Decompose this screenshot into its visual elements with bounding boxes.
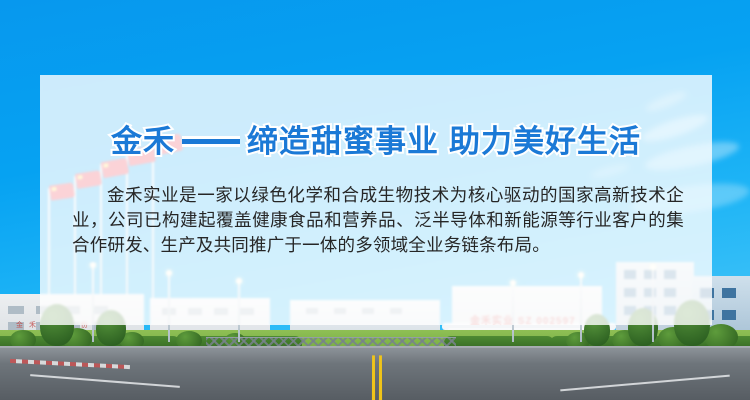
page-title: 金禾缔造甜蜜事业助力美好生活: [40, 75, 712, 157]
company-banner: 金禾实业 SZ 002597 金 禾 实 业 股 份 JINHE INDUSTR…: [0, 0, 750, 400]
tagline-part-1: 缔造甜蜜事业: [247, 124, 439, 159]
center-lane-line: [372, 355, 375, 400]
brand-name: 金禾: [111, 124, 175, 159]
center-lane-line: [379, 355, 382, 400]
road-icon: [0, 348, 750, 400]
edge-lane-line: [30, 374, 180, 388]
edge-lane-line: [560, 375, 730, 392]
title-dash-separator: [182, 136, 240, 147]
company-description: 金禾实业是一家以绿色化学和合成生物技术为核心驱动的国家高新技术企业，公司已构建起…: [72, 183, 684, 258]
tagline-part-2: 助力美好生活: [449, 124, 641, 159]
description-paragraph: 金禾实业是一家以绿色化学和合成生物技术为核心驱动的国家高新技术企业，公司已构建起…: [72, 183, 684, 258]
